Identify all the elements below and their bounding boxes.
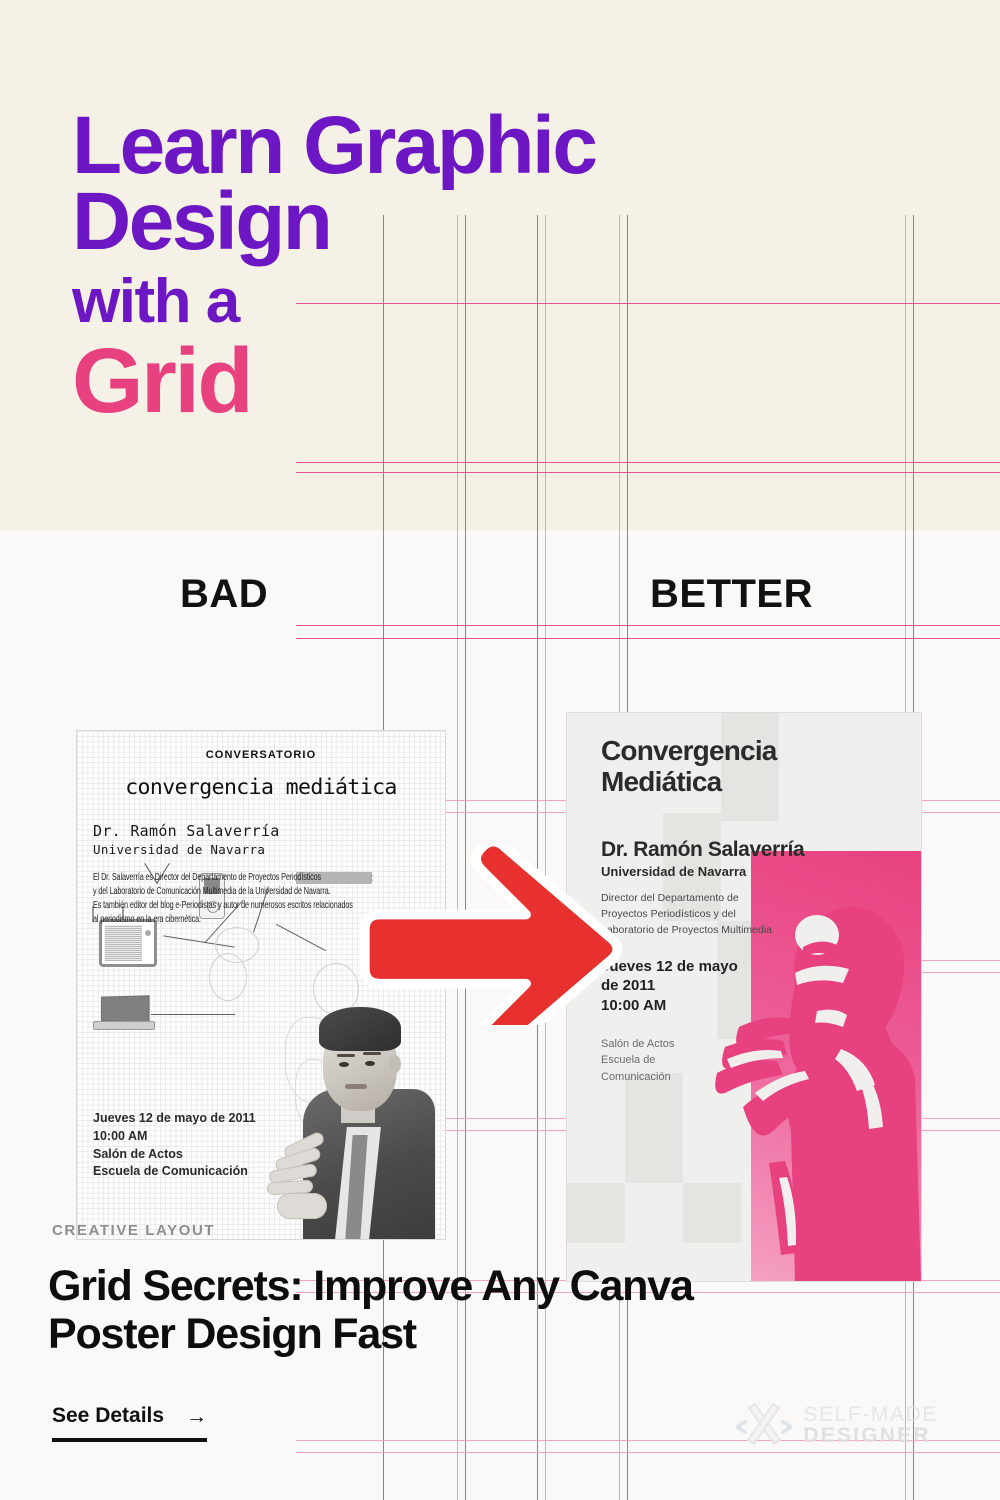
hero-line-4-grid: Grid [72,338,812,425]
better-venue-line: Salón de Actos [601,1036,897,1052]
bad-poster-eyebrow: CONVERSATORIO [93,749,429,761]
better-poster-date: Jueves 12 de mayo de 2011 10:00 AM [601,957,897,1016]
bad-poster-details: Jueves 12 de mayo de 2011 10:00 AM Salón… [93,1110,256,1181]
better-poster-affiliation: Universidad de Navarra [601,864,897,879]
label-bad: BAD [180,572,268,617]
better-title-line-1: Convergencia [601,735,897,766]
bad-poster-speaker: Dr. Ramón Salaverría [93,822,429,840]
better-venue-line: Escuela de [601,1052,897,1068]
headline-line-2: Poster Design Fast [48,1310,958,1358]
hero-line-3: with a [72,267,812,336]
see-details-link[interactable]: See Details → [52,1404,207,1442]
hero-heading: Learn Graphic Design with a Grid [72,108,812,425]
better-poster-title: Convergencia Mediática [601,735,897,798]
red-arrow-icon [355,845,645,1025]
label-better: BETTER [650,572,813,617]
hero-line-2: Design [72,184,812,260]
bad-detail-line: Salón de Actos [93,1146,256,1164]
better-date-line: Jueves 12 de mayo [601,957,897,977]
bad-detail-line: Escuela de Comunicación [93,1163,256,1181]
better-poster-role: Director del Departamento de Proyectos P… [601,891,897,939]
card-eyebrow: CREATIVE LAYOUT [52,1222,215,1239]
better-title-line-2: Mediática [601,766,897,797]
logo-word-top: SELF-MADE [803,1404,938,1425]
better-venue-line: Comunicación [601,1069,897,1085]
brand-logo: SELF-MADE DESIGNER [735,1402,938,1448]
better-role-line: Laboratorio de Proyectos Multimedia [601,923,897,939]
card-headline: Grid Secrets: Improve Any Canva Poster D… [48,1262,958,1358]
crossed-pencils-icon [735,1402,793,1448]
arrow-right-icon: → [186,1406,207,1427]
bad-poster-title: convergencia mediática [93,775,429,800]
headline-line-1: Grid Secrets: Improve Any Canva [48,1262,958,1310]
better-poster-venue: Salón de Actos Escuela de Comunicación [601,1036,897,1085]
hero-line-1: Learn Graphic [72,108,812,184]
better-poster-speaker: Dr. Ramón Salaverría [601,838,897,862]
bad-detail-line: 10:00 AM [93,1128,256,1146]
bad-detail-line: Jueves 12 de mayo de 2011 [93,1110,256,1128]
see-details-label: See Details [52,1404,164,1428]
better-role-line: Proyectos Periodísticos y del [601,907,897,923]
better-date-line: 10:00 AM [601,996,897,1016]
better-role-line: Director del Departamento de [601,891,897,907]
logo-word-bottom: DESIGNER [803,1425,938,1446]
better-date-line: de 2011 [601,976,897,996]
